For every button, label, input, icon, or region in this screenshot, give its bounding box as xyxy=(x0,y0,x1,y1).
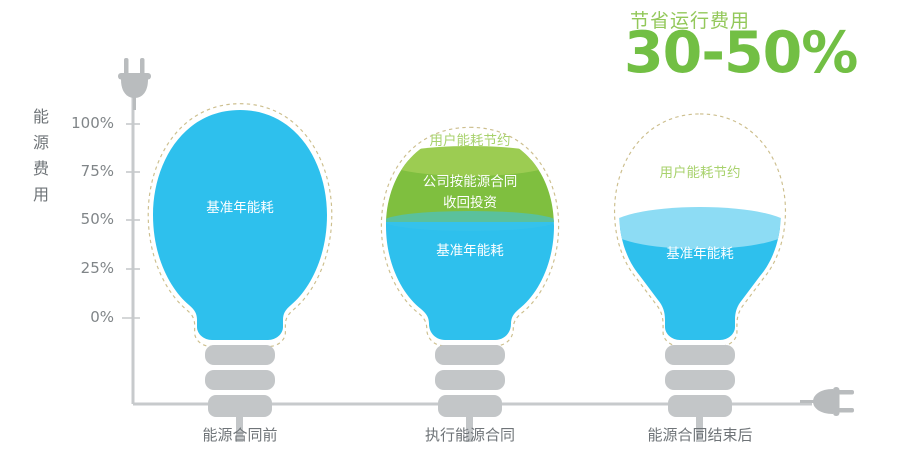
y-tick-75: 75% xyxy=(58,162,114,180)
bulb-3-baseline-label: 基准年能耗 xyxy=(620,244,780,265)
plug-icon-x-axis xyxy=(800,387,854,416)
y-tick-marks xyxy=(122,124,140,318)
bulb-group-1 xyxy=(140,100,350,442)
bulb-2-savings-label: 用户能耗节约 xyxy=(390,131,550,152)
y-axis-label: 能源费用 xyxy=(30,104,52,208)
bulb-2-investment-label-line2: 收回投资 xyxy=(390,193,550,214)
x-tick-during-contract: 执行能源合同 xyxy=(390,424,550,445)
y-tick-50: 50% xyxy=(58,210,114,228)
x-tick-before-contract: 能源合同前 xyxy=(160,424,320,445)
y-tick-0: 0% xyxy=(58,308,114,326)
y-tick-100: 100% xyxy=(58,114,114,132)
y-tick-25: 25% xyxy=(58,259,114,277)
plug-icon-y-axis xyxy=(118,58,151,110)
bulb-3-fill xyxy=(605,207,800,353)
infographic-canvas: 节省运行费用 30-50% 能源费用 100% 75% 50% 25% 0% 能… xyxy=(0,0,900,473)
bulb-1-baseline-label: 基准年能耗 xyxy=(160,198,320,219)
bulb-2-baseline-label: 基准年能耗 xyxy=(390,241,550,262)
bulb-1-fill xyxy=(140,100,350,350)
header-headline: 30-50% xyxy=(624,24,857,84)
bulb-2-investment-label-line1: 公司按能源合同 xyxy=(390,172,550,193)
bulb-3-savings-label: 用户能耗节约 xyxy=(620,163,780,184)
x-tick-after-contract: 能源合同结束后 xyxy=(615,424,785,445)
